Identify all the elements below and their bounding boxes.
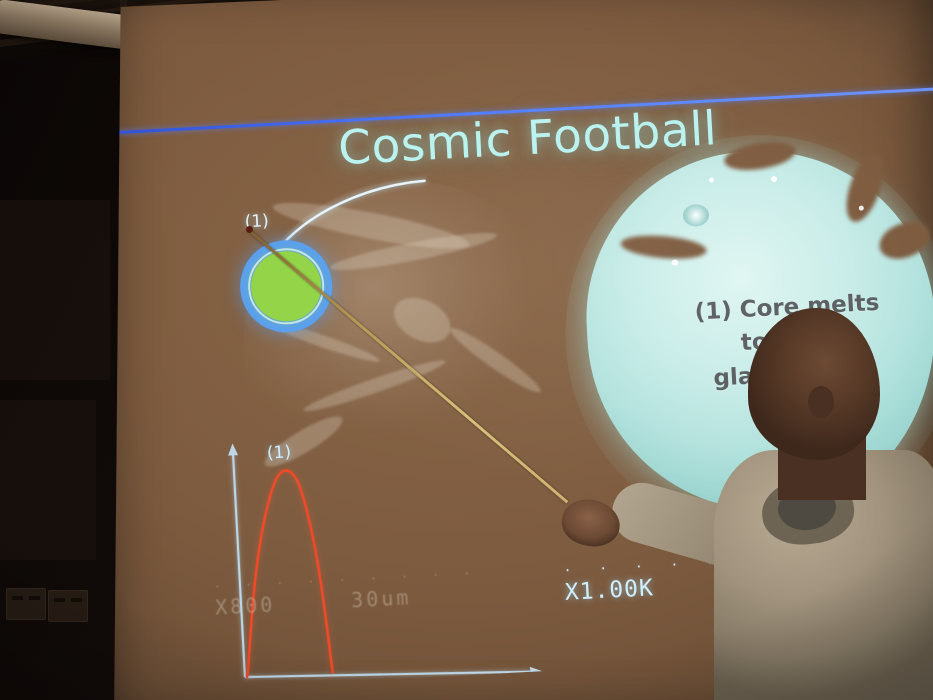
inset-plot-svg bbox=[214, 421, 557, 688]
scale-bar-faint-magnification: X800 bbox=[215, 592, 276, 619]
power-outlet bbox=[6, 588, 46, 620]
presenter-head bbox=[748, 308, 880, 460]
pointer-tip bbox=[246, 226, 253, 233]
power-outlet bbox=[48, 590, 88, 622]
scale-bar-main-magnification: X1.00K bbox=[564, 575, 654, 606]
wall-panel bbox=[0, 200, 110, 380]
presenter bbox=[700, 300, 933, 700]
screenshot-root: Cosmic Football (1) bbox=[0, 0, 933, 700]
scale-bar-faint-length: 30um bbox=[351, 585, 412, 612]
wall-panel bbox=[0, 400, 96, 560]
presenter-ear bbox=[808, 386, 834, 418]
inset-plot: (1) bbox=[214, 421, 557, 688]
inset-plot-label: (1) bbox=[267, 442, 292, 463]
